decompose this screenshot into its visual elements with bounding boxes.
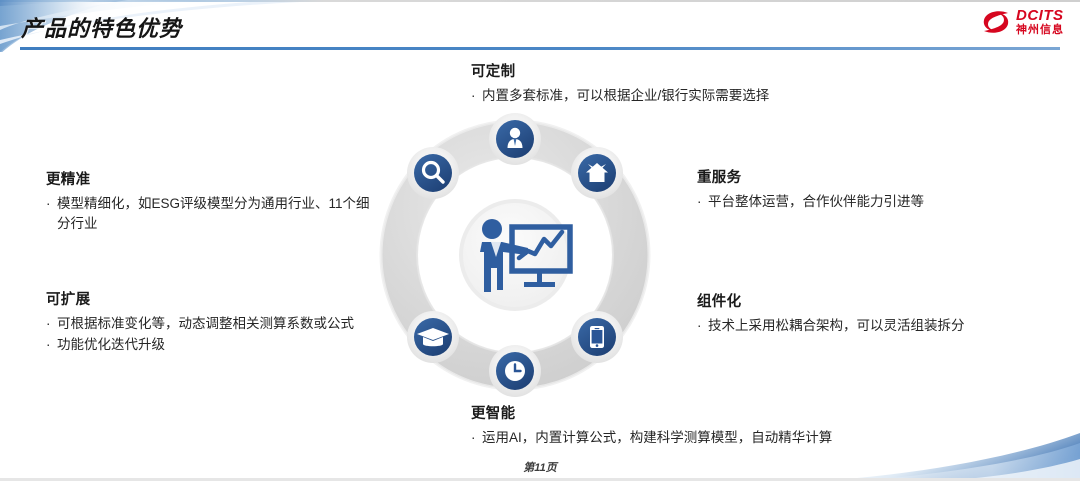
feature-block-extensible: 可扩展 · 可根据标准变化等，动态调整相关测算系数或公式 · 功能优化迭代升级 bbox=[46, 288, 376, 357]
feature-block-accurate: 更精准 · 模型精细化，如ESG评级模型分为通用行业、11个细分行业 bbox=[46, 168, 376, 236]
feature-title: 可定制 bbox=[471, 60, 891, 81]
logo-en-text: DCITS bbox=[1016, 8, 1064, 23]
center-circle bbox=[463, 203, 567, 307]
bullet-marker: · bbox=[471, 428, 482, 448]
feature-bullet-text: 功能优化迭代升级 bbox=[57, 335, 376, 355]
badge-magnifier bbox=[407, 147, 459, 199]
feature-bullet-text: 可根据标准变化等，动态调整相关测算系数或公式 bbox=[57, 314, 376, 334]
feature-bullet: · 内置多套标准，可以根据企业/银行实际需要选择 bbox=[471, 86, 891, 106]
feature-bullet: · 功能优化迭代升级 bbox=[46, 335, 376, 355]
title-underline-rule bbox=[20, 47, 1060, 50]
company-logo: DCITS 神州信息 bbox=[981, 8, 1064, 36]
bottom-swoosh-decoration bbox=[820, 433, 1080, 481]
feature-bullet-text: 内置多套标准，可以根据企业/银行实际需要选择 bbox=[482, 86, 891, 106]
magnifier-icon-background bbox=[414, 154, 452, 192]
bullet-marker: · bbox=[697, 192, 708, 212]
page-title: 产品的特色优势 bbox=[21, 11, 182, 43]
badge-user bbox=[489, 113, 541, 165]
bullet-marker: · bbox=[46, 314, 57, 334]
logo-cn-text: 神州信息 bbox=[1016, 25, 1064, 36]
feature-title: 更智能 bbox=[471, 402, 921, 423]
feature-bullet: · 可根据标准变化等，动态调整相关测算系数或公式 bbox=[46, 314, 376, 334]
badge-home bbox=[571, 147, 623, 199]
smartphone-icon bbox=[590, 326, 604, 348]
feature-bullet-text: 模型精细化，如ESG评级模型分为通用行业、11个细分行业 bbox=[57, 194, 376, 235]
feature-bullet: · 技术上采用松耦合架构，可以灵活组装拆分 bbox=[697, 316, 1027, 336]
feature-bullet-text: 平台整体运营，合作伙伴能力引进等 bbox=[708, 192, 1027, 212]
bullet-marker: · bbox=[471, 86, 482, 106]
badge-smartphone bbox=[571, 311, 623, 363]
feature-title: 重服务 bbox=[697, 166, 1027, 187]
feature-title: 更精准 bbox=[46, 168, 376, 189]
feature-block-component: 组件化 · 技术上采用松耦合架构，可以灵活组装拆分 bbox=[697, 290, 1027, 337]
feature-title: 组件化 bbox=[697, 290, 1027, 311]
feature-block-customizable: 可定制 · 内置多套标准，可以根据企业/银行实际需要选择 bbox=[471, 60, 891, 107]
badge-graduation bbox=[407, 311, 459, 363]
feature-bullet: · 模型精细化，如ESG评级模型分为通用行业、11个细分行业 bbox=[46, 194, 376, 235]
feature-title: 可扩展 bbox=[46, 288, 376, 309]
feature-hub-diagram bbox=[372, 112, 658, 398]
feature-bullet-text: 技术上采用松耦合架构，可以灵活组装拆分 bbox=[708, 316, 1027, 336]
feature-block-service: 重服务 · 平台整体运营，合作伙伴能力引进等 bbox=[697, 166, 1027, 213]
logo-wordmark: DCITS 神州信息 bbox=[1016, 8, 1064, 36]
slide: 产品的特色优势 DCITS 神州信息 可定制 · 内置多套标准，可以根据企业/银… bbox=[0, 0, 1080, 481]
dcits-swirl-icon bbox=[981, 8, 1011, 36]
clock-icon bbox=[505, 361, 525, 381]
badge-clock bbox=[489, 345, 541, 397]
bullet-marker: · bbox=[46, 335, 57, 355]
bullet-marker: · bbox=[46, 194, 57, 235]
bullet-marker: · bbox=[697, 316, 708, 336]
slide-header: 产品的特色优势 DCITS 神州信息 bbox=[0, 0, 1080, 52]
feature-bullet: · 平台整体运营，合作伙伴能力引进等 bbox=[697, 192, 1027, 212]
